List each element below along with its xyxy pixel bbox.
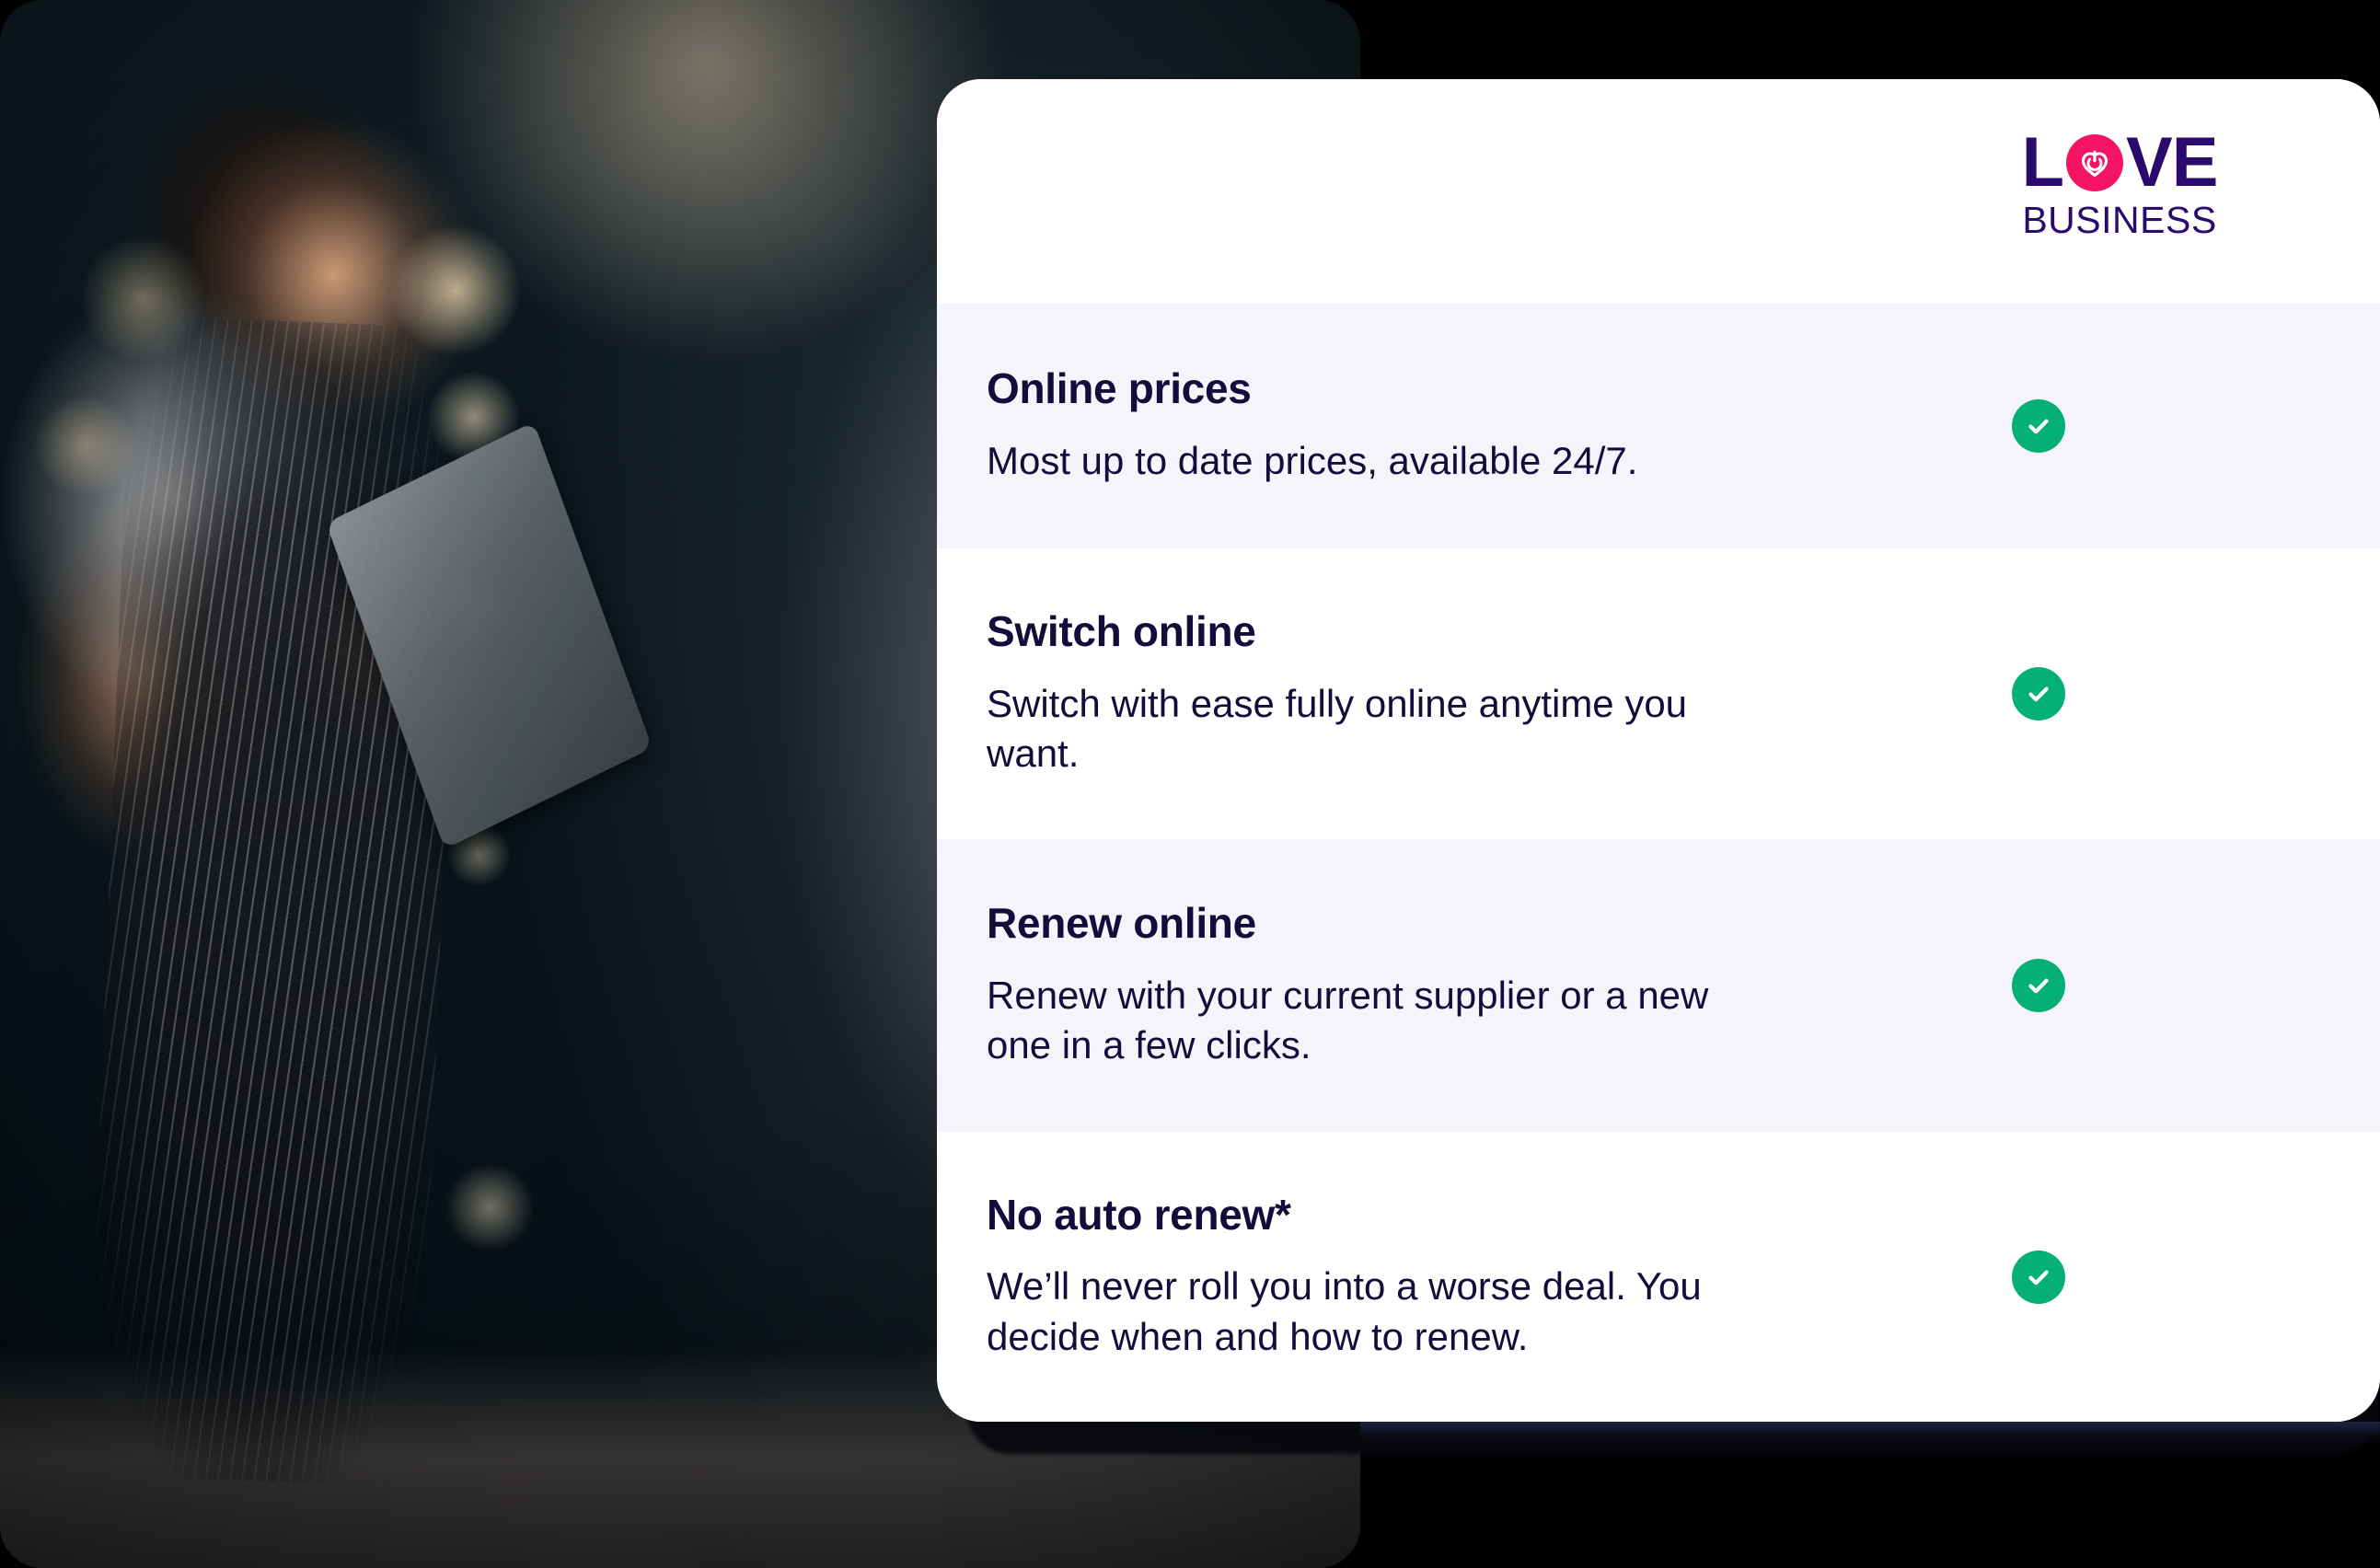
logo-wordmark: L VE [2021, 131, 2218, 195]
feature-title: Switch online [987, 608, 1975, 655]
check-circle-icon [2012, 1251, 2065, 1304]
feature-title: Online prices [987, 365, 1975, 412]
logo-letter-l: L [2022, 131, 2063, 195]
feature-description: We’ll never roll you into a worse deal. … [987, 1262, 1714, 1362]
feature-row-online-prices: Online prices Most up to date prices, av… [937, 304, 2380, 548]
check-circle-icon [2012, 959, 2065, 1012]
card-header: L VE BUSINESS [937, 79, 2380, 304]
logo-letters-ve: VE [2126, 131, 2217, 195]
card-bottom-shadow [1360, 1422, 2380, 1446]
feature-row-switch-online: Switch online Switch with ease fully onl… [937, 548, 2380, 839]
feature-text: No auto renew* We’ll never roll you into… [987, 1192, 1975, 1363]
feature-description: Switch with ease fully online anytime yo… [987, 679, 1714, 779]
feature-list: Online prices Most up to date prices, av… [937, 304, 2380, 1422]
page-root: L VE BUSINESS Online prices [0, 0, 2380, 1568]
feature-text: Online prices Most up to date prices, av… [987, 365, 1975, 486]
check-circle-icon [2012, 667, 2065, 721]
heart-power-icon [2066, 134, 2123, 191]
feature-text: Switch online Switch with ease fully onl… [987, 608, 1975, 779]
feature-description: Renew with your current supplier or a ne… [987, 971, 1714, 1071]
feature-description: Most up to date prices, available 24/7. [987, 436, 1714, 487]
feature-title: No auto renew* [987, 1192, 1975, 1239]
feature-title: Renew online [987, 900, 1975, 947]
feature-row-no-auto-renew: No auto renew* We’ll never roll you into… [937, 1132, 2380, 1422]
feature-row-renew-online: Renew online Renew with your current sup… [937, 839, 2380, 1132]
logo-subtitle: BUSINESS [2021, 199, 2218, 242]
feature-card: L VE BUSINESS Online prices [937, 79, 2380, 1422]
check-circle-icon [2012, 399, 2065, 453]
feature-text: Renew online Renew with your current sup… [987, 900, 1975, 1071]
love-business-logo: L VE BUSINESS [2021, 131, 2218, 242]
